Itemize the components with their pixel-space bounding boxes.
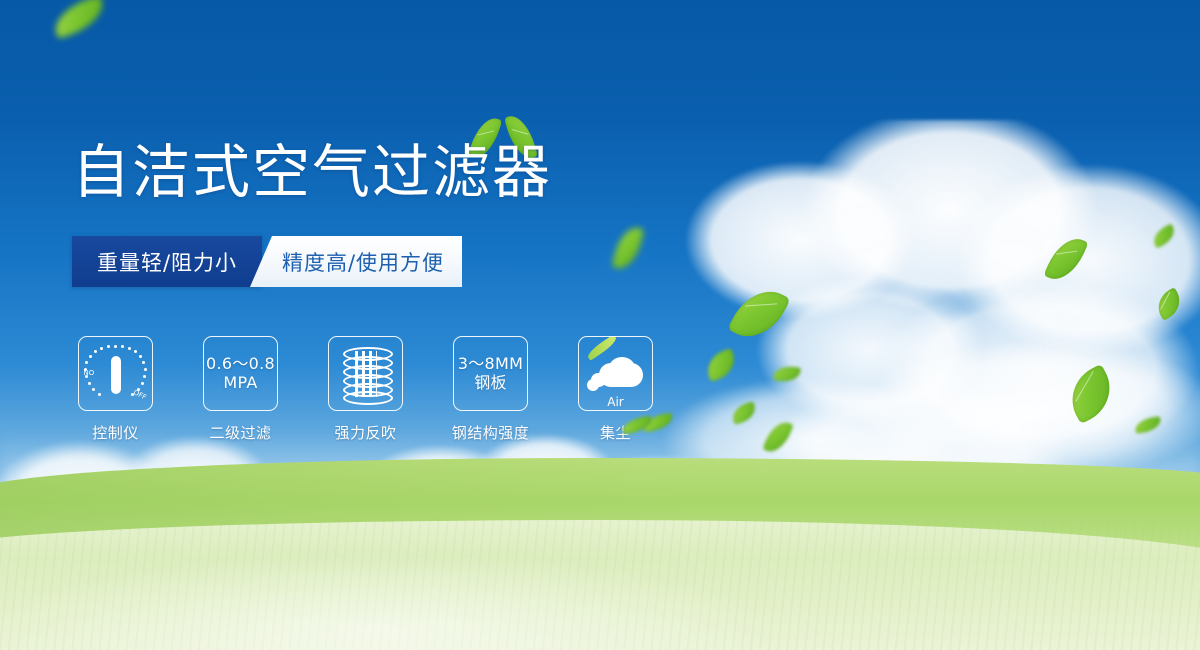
feature-label: 控制仪 [92, 422, 139, 443]
feature-icon-box: 3～8MM 钢板 [453, 336, 528, 411]
leaf-icon [1152, 287, 1187, 321]
feature-list: NO OFF 控制仪 0.6～0.8 MPA 二级过滤 [78, 336, 653, 443]
grass-highlight [0, 480, 1200, 650]
blowback-icon [340, 347, 392, 401]
subtitle-right-text: 精度高/使用方便 [268, 247, 444, 277]
leaf-icon [1060, 364, 1121, 424]
gauge-label-off: OFF [132, 388, 148, 401]
page-title: 自洁式空气过滤器 [72, 143, 552, 201]
leaf-icon [703, 348, 740, 382]
feature-icon-box: 0.6～0.8 MPA [203, 336, 278, 411]
leaf-icon [727, 279, 790, 348]
pressure-icon: 0.6～0.8 MPA [206, 355, 275, 392]
leaf-icon [762, 417, 793, 456]
feature-item-blowback[interactable]: 强力反吹 [328, 336, 403, 443]
gauge-label-no: NO [84, 369, 95, 377]
feature-icon-box: Air [578, 336, 653, 411]
steel-plate-text: 钢板 [458, 374, 523, 393]
feature-label: 钢结构强度 [452, 422, 530, 443]
leaf-icon [773, 364, 801, 383]
feature-label: 强力反吹 [334, 422, 396, 443]
leaf-icon [612, 224, 645, 272]
subtitle-left-text: 重量轻/阻力小 [97, 247, 237, 277]
feature-icon-box: NO OFF [78, 336, 153, 411]
product-banner: 自洁式空气过滤器 重量轻/阻力小 精度高/使用方便 [0, 0, 1200, 650]
steel-thickness-text: 3～8MM [458, 355, 523, 374]
gauge-needle [111, 356, 121, 394]
air-text: Air [587, 395, 645, 409]
pressure-range-text: 0.6～0.8 [206, 355, 275, 374]
steel-icon: 3～8MM 钢板 [458, 355, 523, 392]
cloud-air-icon: Air [587, 349, 645, 395]
subtitle-right-panel: 精度高/使用方便 [250, 236, 462, 287]
subtitle-bar: 重量轻/阻力小 精度高/使用方便 [72, 236, 462, 287]
leaf-icon [730, 401, 758, 424]
feature-item-steel[interactable]: 3～8MM 钢板 钢结构强度 [453, 336, 528, 443]
feature-label: 二级过滤 [209, 422, 271, 443]
feature-item-pressure[interactable]: 0.6～0.8 MPA 二级过滤 [203, 336, 278, 443]
leaf-icon [1134, 416, 1162, 433]
feature-item-controller[interactable]: NO OFF 控制仪 [78, 336, 153, 443]
leaf-streak-icon [585, 336, 618, 360]
leaf-icon [49, 0, 109, 39]
pressure-unit-text: MPA [206, 374, 275, 393]
feature-icon-box [328, 336, 403, 411]
leaf-icon [1043, 231, 1088, 286]
subtitle-left-panel: 重量轻/阻力小 [72, 236, 262, 287]
gauge-icon: NO OFF [85, 343, 147, 405]
leaf-icon [1150, 224, 1179, 249]
